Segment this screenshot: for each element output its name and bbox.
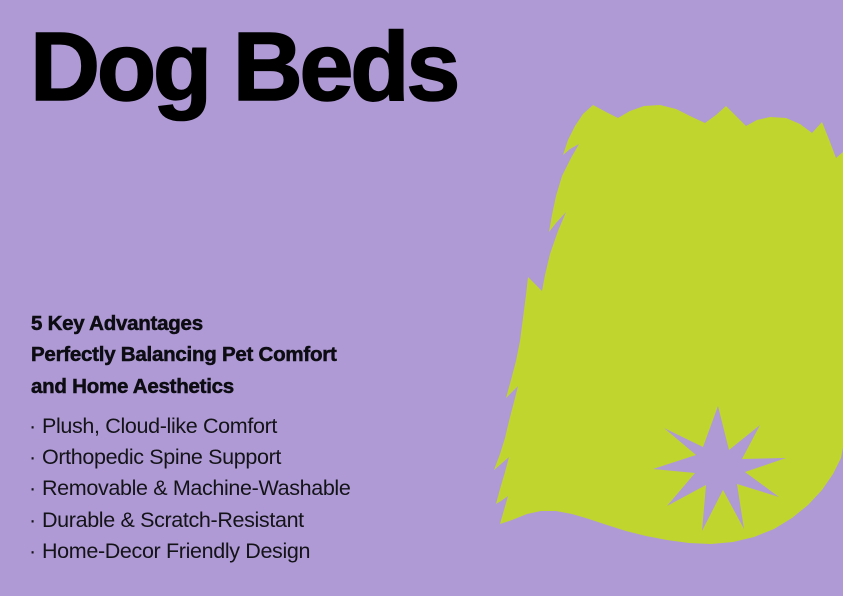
bullet-dot-icon: · <box>29 442 42 473</box>
poster-content: Dog Beds 5 Key Advantages Perfectly Bala… <box>0 0 843 596</box>
page-title: Dog Beds <box>30 16 457 119</box>
list-item-label: Plush, Cloud-like Comfort <box>42 414 277 438</box>
list-item-label: Removable & Machine-Washable <box>42 476 350 500</box>
list-item: ·Home-Decor Friendly Design <box>29 536 489 567</box>
subheading-line-2: Perfectly Balancing Pet Comfort <box>31 339 451 370</box>
subheading-block: 5 Key Advantages Perfectly Balancing Pet… <box>31 308 451 402</box>
bullet-dot-icon: · <box>29 473 42 504</box>
poster-canvas: Dog Beds 5 Key Advantages Perfectly Bala… <box>0 0 843 596</box>
bullet-dot-icon: · <box>29 505 42 536</box>
list-item-label: Durable & Scratch-Resistant <box>42 508 304 532</box>
subheading-line-3: and Home Aesthetics <box>31 371 451 402</box>
bullet-dot-icon: · <box>29 536 42 567</box>
subheading-line-1: 5 Key Advantages <box>31 308 451 339</box>
bullet-dot-icon: · <box>29 411 42 442</box>
list-item-label: Orthopedic Spine Support <box>42 445 281 469</box>
list-item: ·Removable & Machine-Washable <box>29 473 489 504</box>
list-item: ·Durable & Scratch-Resistant <box>29 505 489 536</box>
list-item: ·Orthopedic Spine Support <box>29 442 489 473</box>
feature-list: ·Plush, Cloud-like Comfort ·Orthopedic S… <box>29 411 489 567</box>
list-item: ·Plush, Cloud-like Comfort <box>29 411 489 442</box>
list-item-label: Home-Decor Friendly Design <box>42 539 310 563</box>
